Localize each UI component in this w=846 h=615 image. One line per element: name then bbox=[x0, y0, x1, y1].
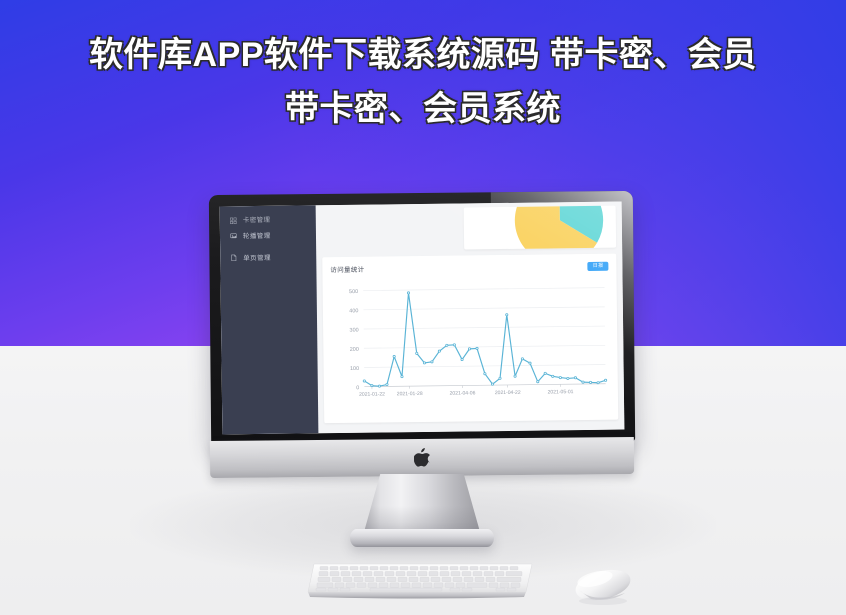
sidebar-item-2-label: 单页管理 bbox=[243, 252, 271, 262]
chart-data-point bbox=[407, 292, 409, 294]
chart-data-point bbox=[378, 385, 380, 387]
daily-report-button[interactable]: 日报 bbox=[588, 261, 609, 270]
chart-data-point bbox=[363, 380, 365, 382]
headline-line-1: 软件库APP软件下载系统源码 带卡密、会员 bbox=[89, 36, 757, 74]
chart-data-point bbox=[438, 350, 440, 352]
admin-dashboard-app: 卡密管理 轮播管理 bbox=[220, 202, 625, 435]
line-chart-header: 访问量统计 日报 bbox=[330, 260, 608, 275]
sidebar-item-0[interactable]: 卡密管理 bbox=[220, 209, 316, 224]
chart-data-point bbox=[559, 376, 561, 378]
line-chart-plot: 01002003004005002021-01-222021-01-282021… bbox=[323, 278, 619, 410]
apple-magic-mouse[interactable] bbox=[565, 562, 637, 608]
monitor-bezel: 卡密管理 轮播管理 bbox=[209, 191, 635, 445]
app-content: ... 访问量统计 日报 bbox=[316, 202, 625, 434]
chart-data-point bbox=[499, 377, 501, 379]
chart-data-point bbox=[582, 381, 584, 383]
chart-data-point bbox=[574, 377, 576, 379]
line-chart-title: 访问量统计 bbox=[330, 264, 364, 274]
sidebar-item-1-label: 轮播管理 bbox=[243, 230, 271, 240]
chart-y-tick-label: 400 bbox=[349, 308, 358, 314]
chart-gridline bbox=[364, 384, 605, 387]
chart-data-point bbox=[537, 381, 539, 383]
chart-data-point bbox=[393, 355, 395, 357]
chart-y-tick-label: 200 bbox=[350, 347, 359, 353]
line-chart-card: 访问量统计 日报 01002003004005002021-01-222021-… bbox=[322, 254, 618, 424]
chart-y-tick-label: 100 bbox=[350, 366, 359, 372]
chart-data-point bbox=[476, 347, 478, 349]
image-icon bbox=[230, 232, 237, 239]
chart-gridline bbox=[364, 365, 605, 368]
file-icon bbox=[230, 254, 237, 261]
chart-data-point bbox=[446, 344, 448, 346]
pie-chart-card: ... bbox=[464, 206, 617, 250]
chart-data-point bbox=[604, 379, 606, 381]
chart-data-point bbox=[552, 375, 554, 377]
chart-data-point bbox=[597, 382, 599, 384]
chart-data-point bbox=[461, 358, 463, 360]
monitor-screen: 卡密管理 轮播管理 bbox=[220, 202, 625, 435]
chart-data-point bbox=[484, 373, 486, 375]
chart-data-point bbox=[567, 377, 569, 379]
monitor-stand-base bbox=[350, 529, 494, 547]
chart-x-tick-label: 2021-04-22 bbox=[495, 390, 521, 396]
chart-y-tick-label: 300 bbox=[349, 328, 358, 334]
chart-data-point bbox=[468, 348, 470, 350]
chart-data-point bbox=[401, 376, 403, 378]
chart-x-tick-label: 2021-01-28 bbox=[397, 391, 423, 397]
chart-data-point bbox=[431, 361, 433, 363]
chart-data-point bbox=[529, 362, 531, 364]
sidebar-item-2[interactable]: 单页管理 bbox=[220, 245, 316, 268]
chart-x-tick-label: 2021-01-22 bbox=[359, 391, 385, 397]
chart-data-point bbox=[506, 314, 508, 316]
chart-data-point bbox=[386, 383, 388, 385]
sidebar-item-0-label: 卡密管理 bbox=[243, 214, 271, 224]
monitor-stand-neck bbox=[364, 474, 480, 532]
chart-data-point bbox=[416, 352, 418, 354]
chart-data-point bbox=[514, 375, 516, 377]
chart-data-point bbox=[371, 385, 373, 387]
pie-chart bbox=[511, 206, 608, 250]
monitor-chin bbox=[210, 437, 634, 478]
chart-data-point bbox=[423, 362, 425, 364]
headline-line-2: 带卡密、会员系统 bbox=[0, 82, 846, 136]
chart-data-point bbox=[589, 381, 591, 383]
chart-gridline bbox=[364, 345, 605, 348]
grid-icon bbox=[230, 217, 237, 224]
chart-gridline bbox=[363, 307, 604, 310]
chart-x-tick-label: 2021-05-01 bbox=[548, 389, 574, 395]
screenshot-stage: 软件库APP软件下载系统源码 带卡密、会员 带卡密、会员系统 bbox=[0, 0, 846, 615]
app-sidebar: 卡密管理 轮播管理 bbox=[220, 205, 319, 434]
apple-keyboard[interactable] bbox=[300, 562, 540, 604]
banner-headline: 软件库APP软件下载系统源码 带卡密、会员 带卡密、会员系统 bbox=[0, 28, 846, 136]
chart-gridline bbox=[364, 326, 605, 329]
chart-data-point bbox=[491, 383, 493, 385]
chart-gridline bbox=[363, 288, 604, 291]
chart-y-tick-label: 500 bbox=[349, 289, 358, 295]
chart-data-point bbox=[453, 344, 455, 346]
sidebar-item-1[interactable]: 轮播管理 bbox=[220, 223, 316, 246]
line-chart-svg: 01002003004005002021-01-222021-01-282021… bbox=[323, 278, 619, 410]
chart-data-point bbox=[544, 372, 546, 374]
chart-data-point bbox=[521, 358, 523, 360]
chart-line-series bbox=[363, 290, 605, 386]
apple-logo-icon bbox=[414, 448, 430, 467]
imac-device: 卡密管理 轮播管理 bbox=[210, 193, 634, 553]
chart-x-tick-label: 2021-04-06 bbox=[450, 390, 476, 396]
chart-y-tick-label: 0 bbox=[356, 385, 359, 391]
